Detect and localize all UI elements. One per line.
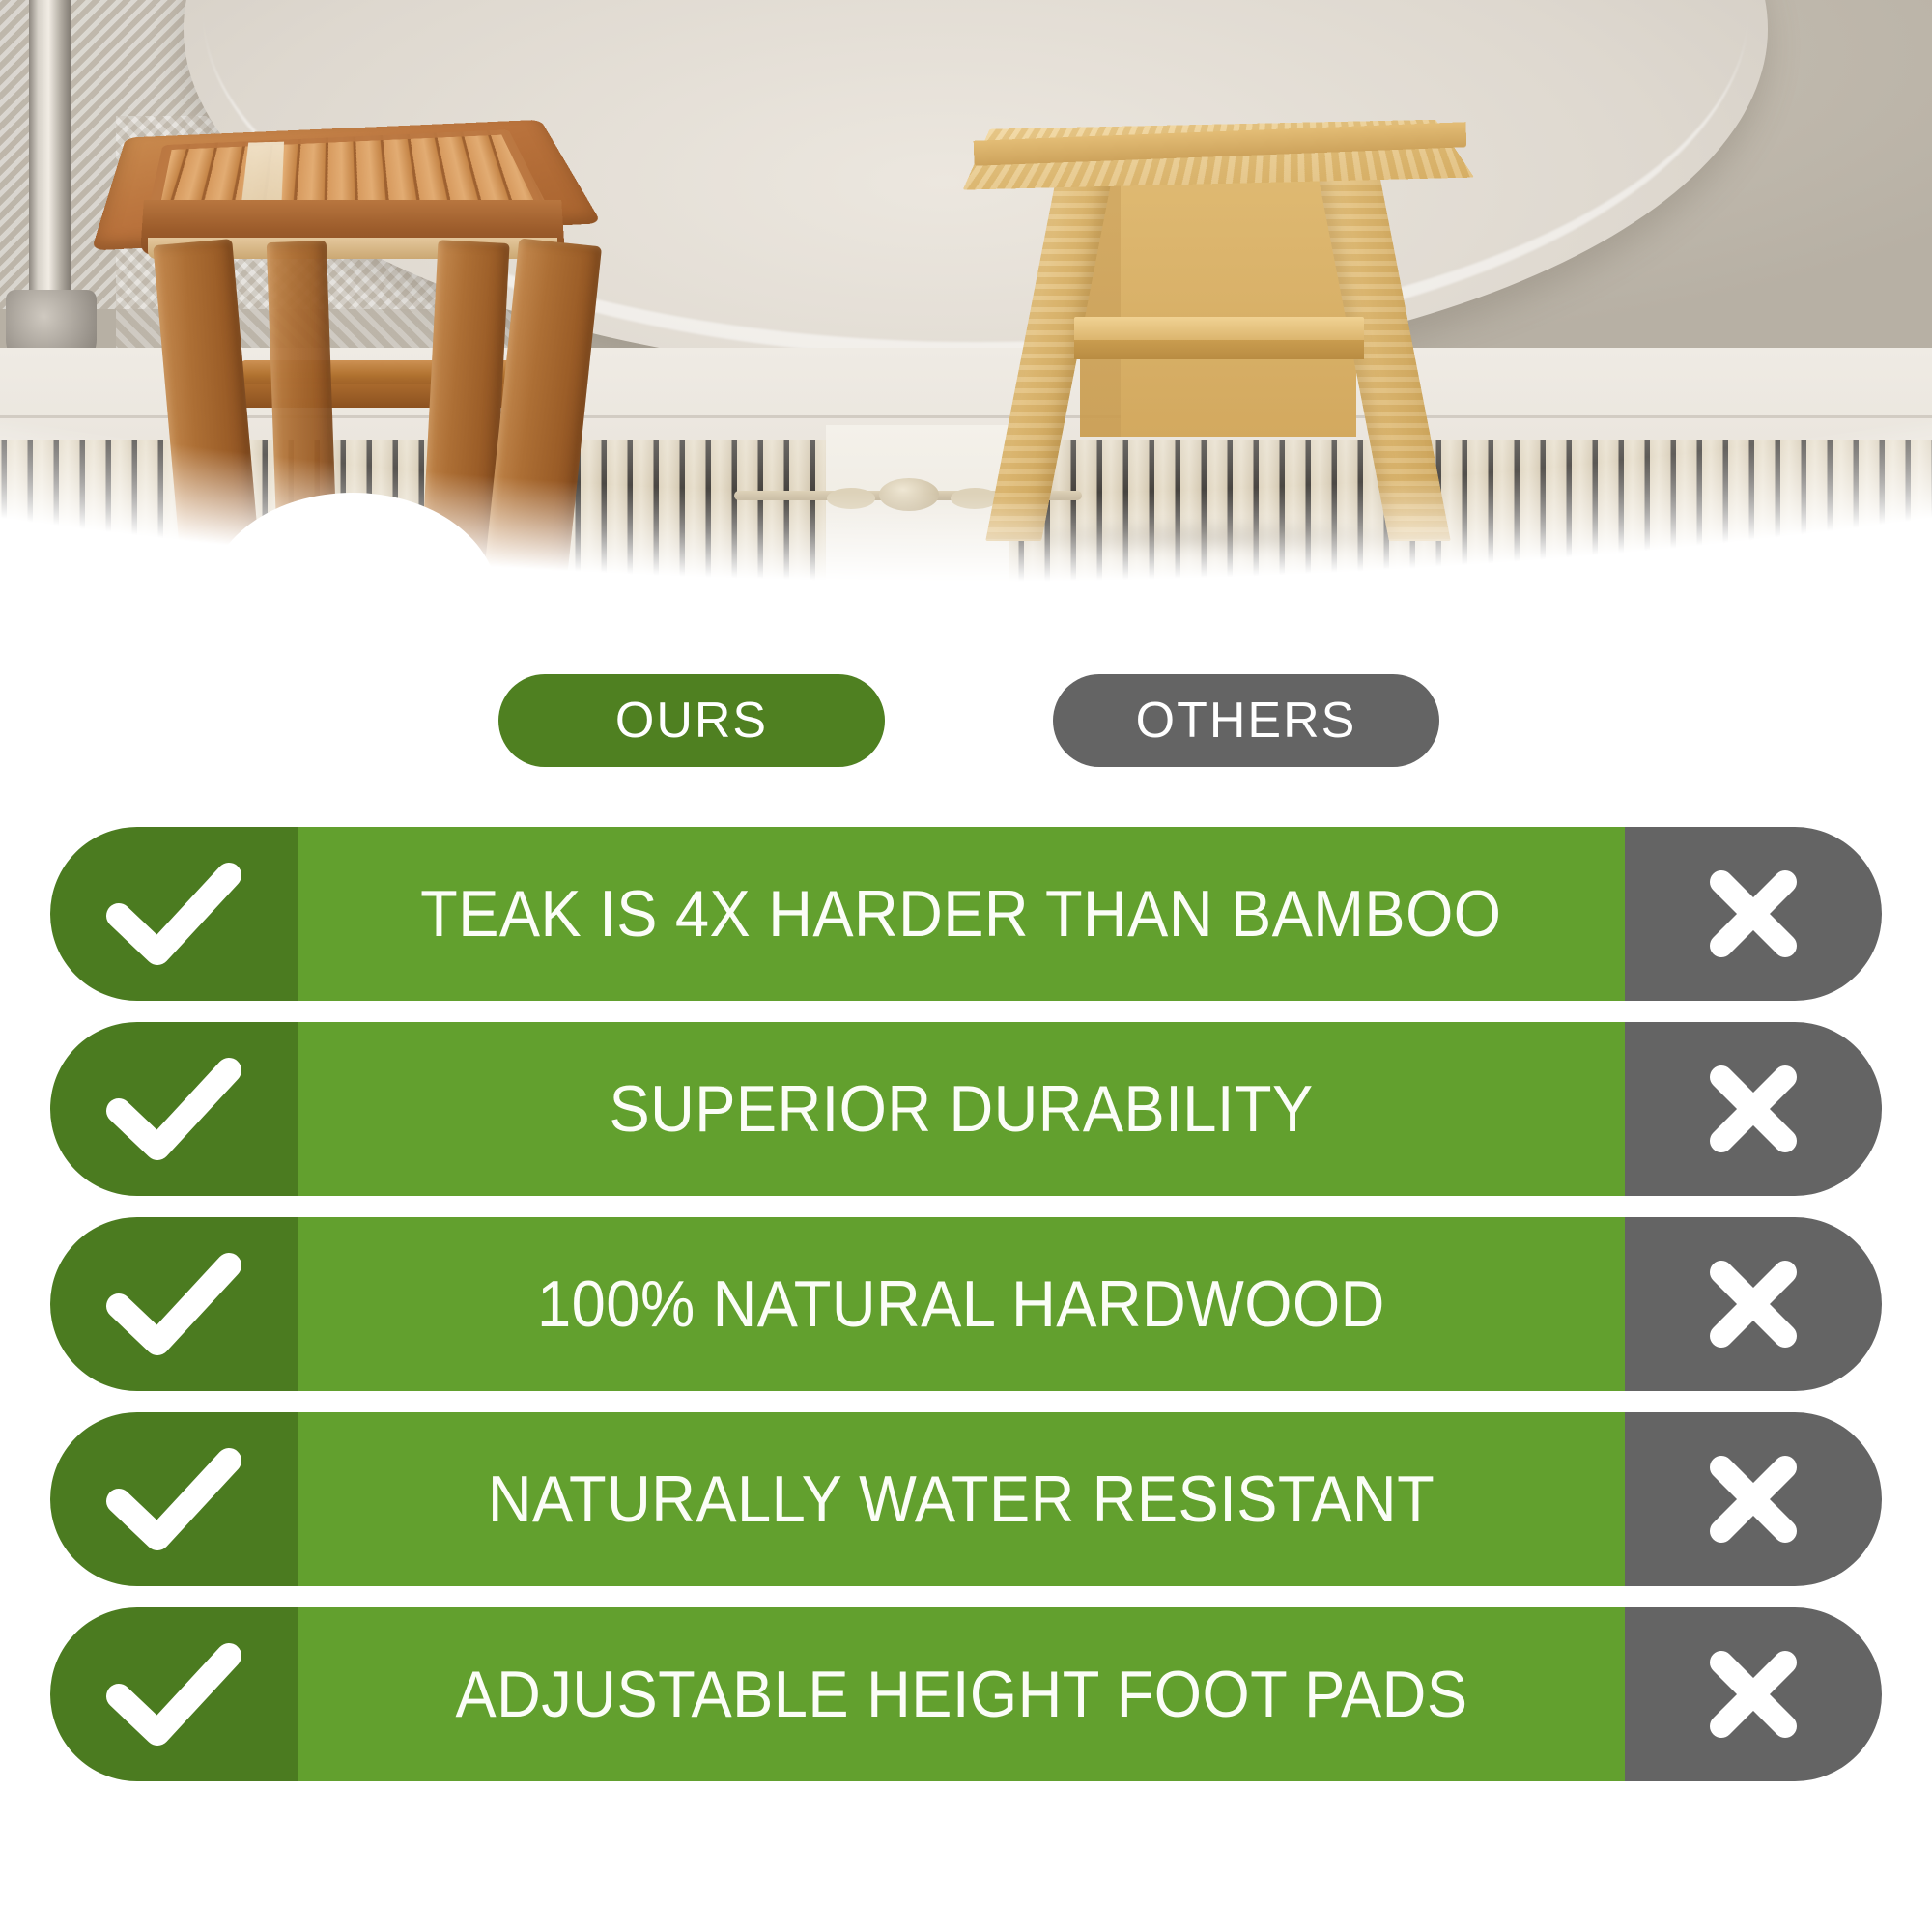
comparison-row: SUPERIOR DURABILITY	[50, 1022, 1882, 1196]
ours-check-cell	[50, 1217, 298, 1391]
others-badge: OTHERS	[1053, 674, 1439, 767]
check-icon	[101, 1441, 246, 1557]
x-icon	[1700, 1641, 1806, 1747]
hero-image-area: OURS OTHERS	[0, 0, 1932, 792]
bamboo-stretcher-edge	[1074, 340, 1364, 359]
feature-label-cell: NATURALLY WATER RESISTANT	[298, 1412, 1625, 1586]
teak-foot-contact-shadow	[203, 547, 290, 568]
infographic-page: OURS OTHERS TEAK IS 4X HARDER THAN BAMBO…	[0, 0, 1932, 1932]
shower-pole	[29, 0, 71, 309]
others-cross-cell	[1625, 1607, 1882, 1781]
x-icon	[1700, 1251, 1806, 1357]
feature-label: ADJUSTABLE HEIGHT FOOT PADS	[455, 1657, 1467, 1732]
others-cross-cell	[1625, 1022, 1882, 1196]
comparison-row: NATURALLY WATER RESISTANT	[50, 1412, 1882, 1586]
bamboo-stool-shadow	[995, 520, 1439, 558]
rope-knot	[879, 478, 939, 511]
others-cross-cell	[1625, 1217, 1882, 1391]
feature-label: SUPERIOR DURABILITY	[609, 1071, 1313, 1147]
comparison-row: 100% NATURAL HARDWOOD	[50, 1217, 1882, 1391]
comparison-row: ADJUSTABLE HEIGHT FOOT PADS	[50, 1607, 1882, 1781]
feature-label-cell: 100% NATURAL HARDWOOD	[298, 1217, 1625, 1391]
check-icon	[101, 1051, 246, 1167]
feature-label: TEAK IS 4X HARDER THAN BAMBOO	[420, 876, 1501, 952]
feature-label-cell: SUPERIOR DURABILITY	[298, 1022, 1625, 1196]
ours-badge-label: OURS	[615, 692, 768, 750]
check-icon	[101, 1246, 246, 1362]
ours-badge: OURS	[498, 674, 885, 767]
ours-check-cell	[50, 1412, 298, 1586]
feature-label: NATURALLY WATER RESISTANT	[488, 1462, 1435, 1537]
ours-check-cell	[50, 827, 298, 1001]
check-icon	[101, 1636, 246, 1752]
others-cross-cell	[1625, 827, 1882, 1001]
x-icon	[1700, 861, 1806, 967]
feature-label-cell: TEAK IS 4X HARDER THAN BAMBOO	[298, 827, 1625, 1001]
teak-stool-ours	[92, 10, 613, 599]
x-icon	[1700, 1056, 1806, 1162]
check-icon	[101, 856, 246, 972]
feature-label: 100% NATURAL HARDWOOD	[537, 1266, 1385, 1342]
feature-label-cell: ADJUSTABLE HEIGHT FOOT PADS	[298, 1607, 1625, 1781]
others-cross-cell	[1625, 1412, 1882, 1586]
product-label-row: OURS OTHERS	[0, 674, 1932, 781]
bathroom-scene-photo	[0, 0, 1932, 676]
teak-leg-inner-left	[267, 241, 336, 532]
comparison-table: TEAK IS 4X HARDER THAN BAMBOOSUPERIOR DU…	[50, 827, 1882, 1803]
ours-check-cell	[50, 1022, 298, 1196]
others-badge-label: OTHERS	[1136, 692, 1357, 750]
ours-check-cell	[50, 1607, 298, 1781]
x-icon	[1700, 1446, 1806, 1552]
bamboo-stool-others	[956, 39, 1497, 580]
comparison-row: TEAK IS 4X HARDER THAN BAMBOO	[50, 827, 1882, 1001]
teak-leg-front-left	[153, 239, 260, 573]
